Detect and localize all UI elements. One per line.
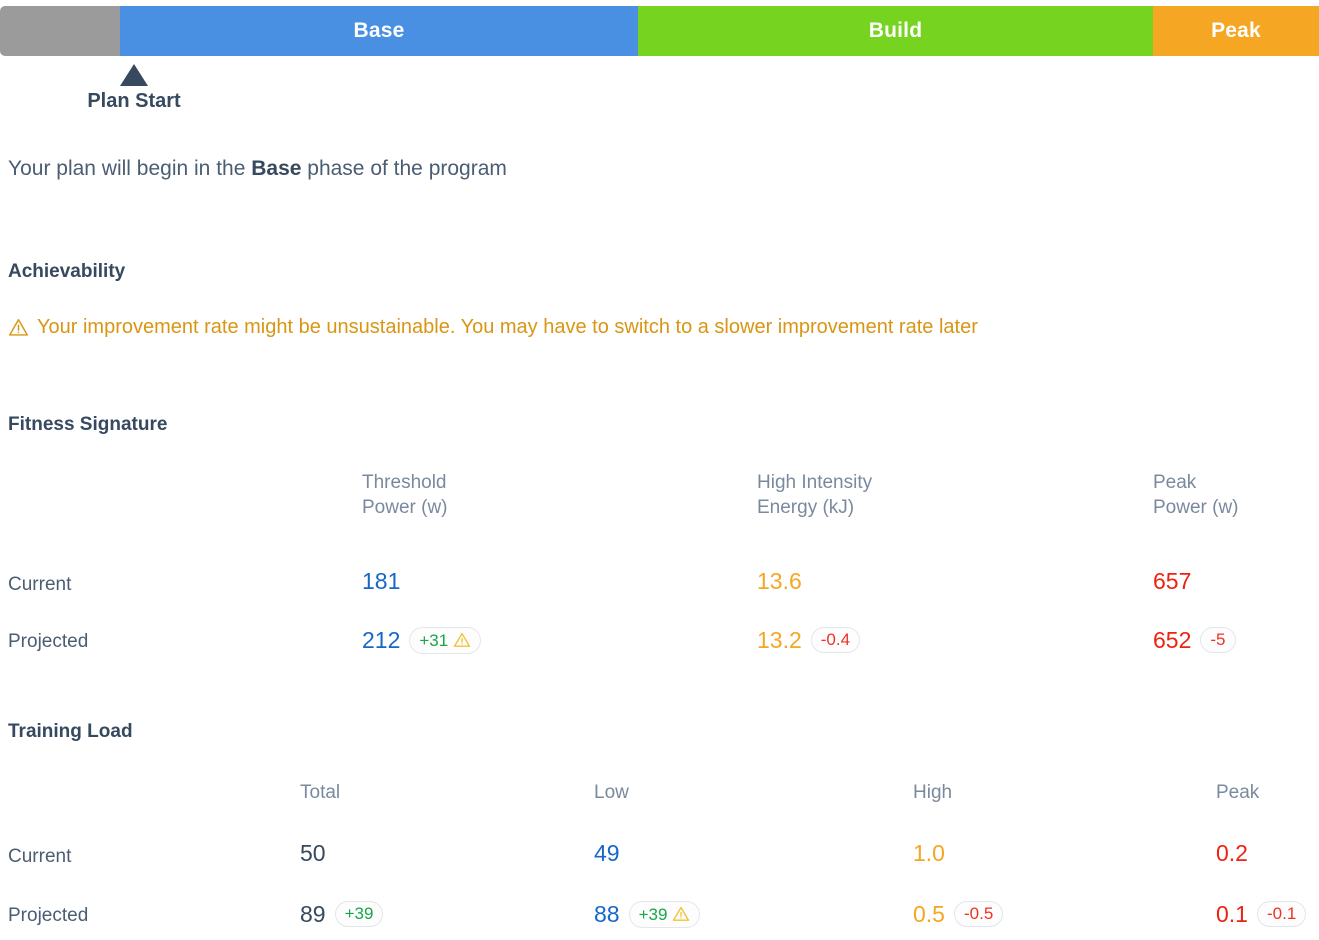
- metric-value: 88: [594, 903, 620, 926]
- plan-start-marker: Plan Start: [0, 64, 268, 111]
- column-header-line2: Power (w): [1153, 495, 1239, 520]
- projected-value: 13.2-0.4: [757, 627, 860, 653]
- delta-badge: -5: [1200, 627, 1235, 653]
- metric-value: 49: [594, 842, 620, 865]
- row-label-current: Current: [8, 846, 71, 868]
- column-header-line1: Threshold: [362, 470, 448, 495]
- warning-triangle-icon: [672, 905, 690, 923]
- delta-badge: -0.5: [954, 901, 1003, 927]
- achievability-warning-text: Your improvement rate might be unsustain…: [37, 315, 978, 339]
- delta-value: -5: [1210, 631, 1225, 648]
- delta-value: +39: [345, 905, 374, 922]
- delta-value: +31: [419, 632, 448, 649]
- column-header-line2: Energy (kJ): [757, 495, 872, 520]
- delta-value: -0.5: [964, 905, 993, 922]
- metric-value: 212: [362, 629, 400, 652]
- phase-segment-label: Peak: [1211, 19, 1261, 43]
- phase-segment-prior: [0, 6, 120, 56]
- intro-phase-name: Base: [251, 157, 301, 180]
- row-label-current: Current: [8, 574, 71, 596]
- column-header: Peak: [1216, 780, 1259, 805]
- column-header: High: [913, 780, 952, 805]
- delta-badge: +31: [409, 627, 481, 654]
- delta-value: +39: [639, 906, 668, 923]
- projected-value: 88+39: [594, 901, 700, 928]
- phase-segment-peak: Peak: [1153, 6, 1319, 56]
- phase-segment-build: Build: [638, 6, 1153, 56]
- current-value: 181: [362, 570, 400, 593]
- column-header: High IntensityEnergy (kJ): [757, 470, 872, 521]
- delta-badge: +39: [335, 901, 384, 927]
- projected-value: 212+31: [362, 627, 481, 654]
- achievability-heading: Achievability: [8, 262, 125, 281]
- metric-value: 0.5: [913, 903, 945, 926]
- delta-badge: +39: [629, 901, 701, 928]
- column-header-line1: Peak: [1153, 470, 1239, 495]
- fitness-signature-heading: Fitness Signature: [8, 415, 167, 434]
- delta-value: -0.4: [821, 631, 850, 648]
- current-value: 0.2: [1216, 842, 1248, 865]
- metric-value: 657: [1153, 570, 1191, 593]
- plan-intro-sentence: Your plan will begin in the Base phase o…: [8, 155, 507, 182]
- warning-triangle-icon: [8, 317, 29, 338]
- column-header: ThresholdPower (w): [362, 470, 448, 521]
- current-value: 50: [300, 842, 326, 865]
- intro-prefix: Your plan will begin in the: [8, 157, 251, 180]
- metric-value: 13.6: [757, 570, 802, 593]
- delta-badge: -0.1: [1257, 901, 1306, 927]
- plan-start-label: Plan Start: [0, 91, 268, 111]
- column-header-line2: Power (w): [362, 495, 448, 520]
- current-value: 13.6: [757, 570, 802, 593]
- program-phase-bar: BaseBuildPeak: [0, 6, 1319, 56]
- intro-suffix: phase of the program: [301, 157, 506, 180]
- column-header: PeakPower (w): [1153, 470, 1239, 521]
- projected-value: 0.5-0.5: [913, 901, 1003, 927]
- row-label-projected: Projected: [8, 905, 88, 927]
- column-header: Low: [594, 780, 629, 805]
- metric-value: 1.0: [913, 842, 945, 865]
- projected-value: 89+39: [300, 901, 383, 927]
- current-value: 657: [1153, 570, 1191, 593]
- current-value: 1.0: [913, 842, 945, 865]
- metric-value: 0.1: [1216, 903, 1248, 926]
- row-label-projected: Projected: [8, 631, 88, 653]
- metric-value: 652: [1153, 629, 1191, 652]
- delta-badge: -0.4: [811, 627, 860, 653]
- column-header: Total: [300, 780, 340, 805]
- phase-segment-label: Build: [869, 19, 923, 43]
- delta-value: -0.1: [1267, 905, 1296, 922]
- column-header-line1: High Intensity: [757, 470, 872, 495]
- phase-segment-base: Base: [120, 6, 638, 56]
- current-value: 49: [594, 842, 620, 865]
- training-load-heading: Training Load: [8, 722, 133, 741]
- projected-value: 652-5: [1153, 627, 1236, 653]
- metric-value: 181: [362, 570, 400, 593]
- projected-value: 0.1-0.1: [1216, 901, 1306, 927]
- achievability-warning: Your improvement rate might be unsustain…: [8, 315, 978, 339]
- triangle-up-icon: [120, 64, 148, 86]
- metric-value: 50: [300, 842, 326, 865]
- metric-value: 13.2: [757, 629, 802, 652]
- warning-triangle-icon: [453, 631, 471, 649]
- phase-segment-label: Base: [353, 19, 404, 43]
- metric-value: 0.2: [1216, 842, 1248, 865]
- metric-value: 89: [300, 903, 326, 926]
